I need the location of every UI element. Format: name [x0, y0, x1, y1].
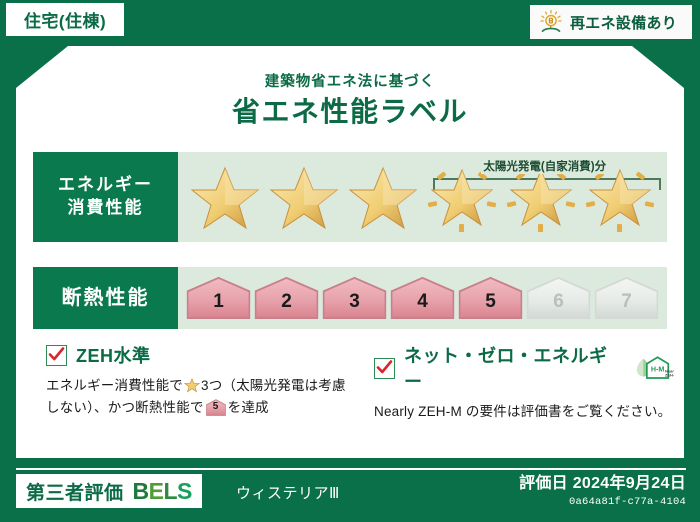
- evaluation-date: 評価日 2024年9月24日: [519, 469, 686, 493]
- criterion-nze-body: Nearly ZEH-M の要件は評価書をご覧ください。: [374, 401, 674, 423]
- net-zero-energy-checkbox[interactable]: [374, 358, 395, 379]
- bels-letter-s: S: [177, 478, 192, 504]
- insulation-grade-5-value: 5: [485, 291, 496, 320]
- nearly-zehm-logo-icon: H-M Nearly ZEH-M: [634, 353, 674, 383]
- insulation-row-label-text: 断熱性能: [62, 285, 150, 312]
- star-3: [344, 152, 423, 242]
- insulation-grade-7-value: 7: [621, 291, 632, 320]
- insulation-grade-2-value: 2: [281, 291, 292, 320]
- criterion-zeh-body-part1: エネルギー消費性能で: [46, 378, 183, 393]
- insulation-grade-1: 1: [186, 276, 251, 320]
- label-panel: 建築物省エネ法に基づく 省エネ性能ラベル エネルギー 消費性能 太陽光発電(自家…: [16, 46, 684, 458]
- star-2: [265, 152, 344, 242]
- renewable-equipment-badge: 再エネ設備あり: [530, 5, 692, 39]
- energy-star-track: 太陽光発電(自家消費)分: [178, 152, 667, 242]
- criterion-zeh-body-part3: を達成: [228, 400, 269, 415]
- footer-meta: 評価日 2024年9月24日 0a64a81f-c77a-4104: [519, 469, 686, 508]
- criterion-zeh-header: ZEH水準: [46, 342, 346, 368]
- solar-bracket-label: 太陽光発電(自家消費)分: [481, 158, 608, 174]
- renewable-badge-label: 再エネ設備あり: [570, 12, 677, 33]
- building-type-tag: 住宅(住棟): [6, 3, 124, 36]
- inline-grade-badge: 5: [206, 399, 226, 416]
- insulation-grade-1-value: 1: [213, 291, 224, 320]
- bels-logo: BELS: [133, 478, 192, 505]
- insulation-grade-track: 1 2 3 4 5: [178, 267, 667, 329]
- insulation-grade-4-value: 4: [417, 291, 428, 320]
- criterion-nze-title: ネット・ゼロ・エネルギー: [404, 342, 623, 394]
- inline-star-icon: [184, 377, 200, 393]
- label-subtitle: 建築物省エネ法に基づく: [16, 70, 684, 91]
- criterion-zeh-body: エネルギー消費性能で3つ（太陽光発電は考慮しない）、かつ断熱性能で5を達成: [46, 375, 346, 419]
- insulation-grade-6-value: 6: [553, 291, 564, 320]
- insulation-grade-6: 6: [526, 276, 591, 320]
- check-icon: [376, 359, 393, 376]
- star-1: [186, 152, 265, 242]
- insulation-grade-group: 1 2 3 4 5: [186, 267, 659, 329]
- insulation-row-label: 断熱性能: [33, 267, 178, 329]
- criterion-nze-header: ネット・ゼロ・エネルギー H-M Nearly ZEH-M: [374, 342, 674, 394]
- insulation-performance-row: 断熱性能 1 2 3: [33, 267, 667, 329]
- insulation-grade-4: 4: [390, 276, 455, 320]
- criterion-zeh-level: ZEH水準 エネルギー消費性能で3つ（太陽光発電は考慮しない）、かつ断熱性能で5…: [46, 342, 346, 419]
- bels-letter-l: L: [163, 478, 177, 504]
- insulation-grade-3-value: 3: [349, 291, 360, 320]
- energy-row-label-line1: エネルギー: [58, 174, 153, 197]
- building-name: ウィステリアⅢ: [236, 482, 340, 503]
- check-icon: [48, 346, 65, 363]
- bels-badge: 第三者評価 BELS: [16, 474, 202, 508]
- energy-row-label-line2: 消費性能: [68, 197, 144, 220]
- insulation-grade-7: 7: [594, 276, 659, 320]
- energy-performance-label: 住宅(住棟) 再エネ設備あり 建築物省エネ法に基づく 省エネ性能ラベル: [0, 0, 700, 522]
- energy-row-label: エネルギー 消費性能: [33, 152, 178, 242]
- criterion-net-zero-energy: ネット・ゼロ・エネルギー H-M Nearly ZEH-M Nearly ZEH…: [374, 342, 674, 423]
- building-type-label: 住宅(住棟): [24, 7, 106, 32]
- criterion-zeh-title: ZEH水準: [76, 342, 151, 368]
- third-party-evaluation-label: 第三者評価: [26, 478, 124, 505]
- svg-text:H-M: H-M: [651, 366, 665, 374]
- label-id: 0a64a81f-c77a-4104: [519, 496, 686, 508]
- solar-sun-icon: [538, 9, 564, 35]
- energy-performance-row: エネルギー 消費性能 太陽光発電(自家消費)分: [33, 152, 667, 242]
- svg-text:ZEH-M: ZEH-M: [665, 373, 674, 378]
- zeh-level-checkbox[interactable]: [46, 345, 67, 366]
- bels-letter-e: E: [149, 478, 164, 504]
- insulation-grade-5: 5: [458, 276, 523, 320]
- insulation-grade-2: 2: [254, 276, 319, 320]
- bels-letter-b: B: [133, 478, 149, 504]
- insulation-grade-3: 3: [322, 276, 387, 320]
- page-title: 省エネ性能ラベル: [16, 90, 684, 130]
- inline-grade-badge-value: 5: [206, 399, 226, 416]
